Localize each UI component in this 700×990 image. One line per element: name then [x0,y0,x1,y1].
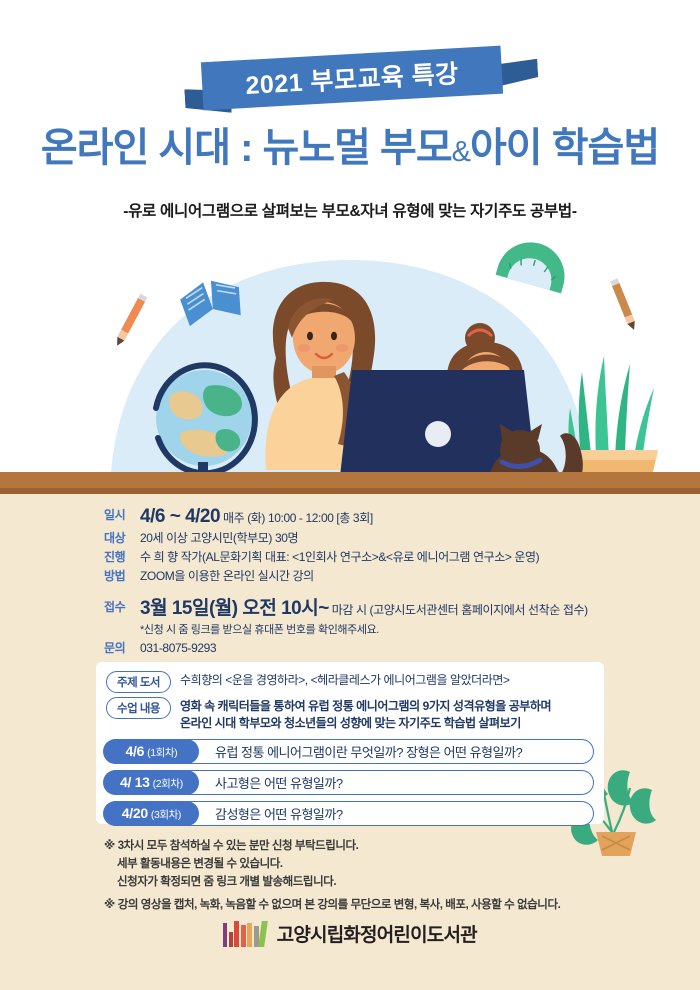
info-value-contact: 031-8075-9293 [140,641,216,655]
footnote-2: 세부 활동내용은 변경될 수 있습니다. [104,856,644,874]
info-row-date: 일시 4/6 ~ 4/20 매주 (화) 10:00 - 12:00 [총 3회… [104,506,624,528]
poster: 2021 부모교육 특강 온라인 시대 : 뉴노멀 부모&아이 학습법 -유로 … [0,0,700,990]
footnotes: ※3차시 모두 참석하실 수 있는 분만 신청 부탁드립니다. 세부 활동내용은… [104,838,644,915]
session-pill-1: 4/6 (1회차) [103,739,199,764]
session-topic-2: 사고형은 어떤 유형일까? [215,773,343,792]
illustration [0,236,700,500]
info-panel: 일시 4/6 ~ 4/20 매주 (화) 10:00 - 12:00 [총 3회… [0,494,700,990]
ribbon-label: 2021 부모교육 특강 [244,54,459,102]
title-ampersand: & [452,136,470,168]
session-row-3: 4/20 (3회차) 감성형은 어떤 유형일까? [104,801,594,826]
info-value-audience: 20세 이상 고양시민(학부모) 30명 [140,529,298,546]
curriculum-content-text: 영화 속 캐릭터들을 통하여 유럽 정통 에니어그램의 9가지 성격유형을 공부… [180,697,551,731]
curriculum-content-tag: 수업 내용 [106,697,171,719]
ribbon-body: 2021 부모교육 특강 [201,46,503,111]
info-row-instructor: 진행 수 희 향 작가(AL문화기획 대표: <1인회사 연구소>&<유로 에니… [104,548,624,565]
curriculum-box: 주제 도서 수희향의 <운을 경영하라>, <헤라클레스가 에니어그램을 알았더… [96,662,604,824]
info-label-contact: 문의 [104,639,140,656]
info-row-registration: 접수 3월 15일(월) 오전 10시~ 마감 시 (고양시도서관센터 홈페이지… [104,593,624,620]
footnote-1: ※3차시 모두 참석하실 수 있는 분만 신청 부탁드립니다. [104,838,644,856]
title-part-2: 아이 학습법 [470,126,659,170]
footnote-mark-1: ※ [104,840,115,852]
page-subtitle: -유로 에니어그램으로 살펴보는 부모&자녀 유형에 맞는 자기주도 공부법- [0,199,700,221]
registration-note: *신청 시 줌 링크를 받으실 휴대폰 번호를 확인해주세요. [140,621,624,637]
info-value-date: 4/6 ~ 4/20 매주 (화) 10:00 - 12:00 [총 3회] [140,506,373,528]
info-value-instructor: 수 희 향 작가(AL문화기획 대표: <1인회사 연구소>&<유로 에니어그램… [140,548,539,565]
title-part-1: 온라인 시대 : 뉴노멀 부모 [41,126,452,170]
info-date-detail: 매주 (화) 10:00 - 12:00 [총 3회] [223,511,373,525]
info-list: 일시 4/6 ~ 4/20 매주 (화) 10:00 - 12:00 [총 3회… [104,506,624,658]
session-ordinal-3: (3회차) [151,807,181,822]
session-date-1: 4/6 [126,743,145,759]
session-pill-2: 4/ 13 (2회차) [103,770,199,795]
logo-books-icon [223,919,268,947]
session-topic-1: 유럽 정통 에니어그램이란 무엇일까? 장형은 어떤 유형일까? [215,742,522,761]
footnote-3: 신청자가 확정되면 줌 링크 개별 발송해드립니다. [104,874,644,892]
info-label-method: 방법 [104,567,140,584]
registration-detail: 마감 시 (고양시도서관센터 홈페이지에서 선착순 접수) [332,603,588,617]
footnote-text-4: 강의 영상을 캡처, 녹화, 녹음할 수 없으며 본 강의를 무단으로 변형, … [118,899,561,911]
info-label-instructor: 진행 [104,548,140,565]
curriculum-book-tag: 주제 도서 [106,671,171,693]
session-ordinal-2: (2회차) [153,776,183,791]
info-row-audience: 대상 20세 이상 고양시민(학부모) 30명 [104,529,624,546]
library-name: 고양시립화정어린이도서관 [277,920,477,947]
footnote-4: ※강의 영상을 캡처, 녹화, 녹음할 수 없으며 본 강의를 무단으로 변형,… [104,897,644,915]
session-date-3: 4/20 [122,805,148,821]
info-row-method: 방법 ZOOM을 이용한 온라인 실시간 강의 [104,567,624,584]
info-date-range: 4/6 ~ 4/20 [140,506,220,527]
ribbon-banner: 2021 부모교육 특강 [0,52,700,122]
info-row-contact: 문의 031-8075-9293 [104,639,624,656]
session-row-1: 4/6 (1회차) 유럽 정통 에니어그램이란 무엇일까? 장형은 어떤 유형일… [104,739,594,764]
curriculum-header: 주제 도서 수희향의 <운을 경영하라>, <헤라클레스가 에니어그램을 알았더… [96,662,604,731]
registration-open-time: 3월 15일(월) 오전 10시~ [140,598,329,619]
session-row-2: 4/ 13 (2회차) 사고형은 어떤 유형일까? [104,770,594,795]
session-ordinal-1: (1회차) [147,745,177,760]
info-label-registration: 접수 [104,598,140,615]
page-title: 온라인 시대 : 뉴노멀 부모&아이 학습법 [0,128,700,168]
session-list: 4/6 (1회차) 유럽 정통 에니어그램이란 무엇일까? 장형은 어떤 유형일… [96,739,604,826]
curriculum-book-row: 주제 도서 수희향의 <운을 경영하라>, <헤라클레스가 에니어그램을 알았더… [106,671,604,693]
footnote-mark-2: ※ [104,899,115,911]
library-logo: 고양시립화정어린이도서관 [0,919,700,947]
info-label-date: 일시 [104,506,140,523]
session-pill-3: 4/20 (3회차) [103,801,199,826]
curriculum-content-line-2: 온라인 시대 학부모와 청소년들의 성향에 맞는 자기주도 학습법 살펴보기 [180,716,521,730]
info-value-method: ZOOM을 이용한 온라인 실시간 강의 [140,567,314,584]
session-topic-3: 감성형은 어떤 유형일까? [215,804,343,823]
curriculum-content-line-1: 영화 속 캐릭터들을 통하여 유럽 정통 에니어그램의 9가지 성격유형을 공부… [180,699,551,713]
info-label-audience: 대상 [104,529,140,546]
info-value-registration: 3월 15일(월) 오전 10시~ 마감 시 (고양시도서관센터 홈페이지에서 … [140,593,588,620]
footnote-text-1: 3차시 모두 참석하실 수 있는 분만 신청 부탁드립니다. [118,840,359,852]
curriculum-content-row: 수업 내용 영화 속 캐릭터들을 통하여 유럽 정통 에니어그램의 9가지 성격… [106,697,604,731]
session-date-2: 4/ 13 [120,774,150,790]
curriculum-book-text: 수희향의 <운을 경영하라>, <헤라클레스가 에니어그램을 알았더라면> [180,671,509,689]
